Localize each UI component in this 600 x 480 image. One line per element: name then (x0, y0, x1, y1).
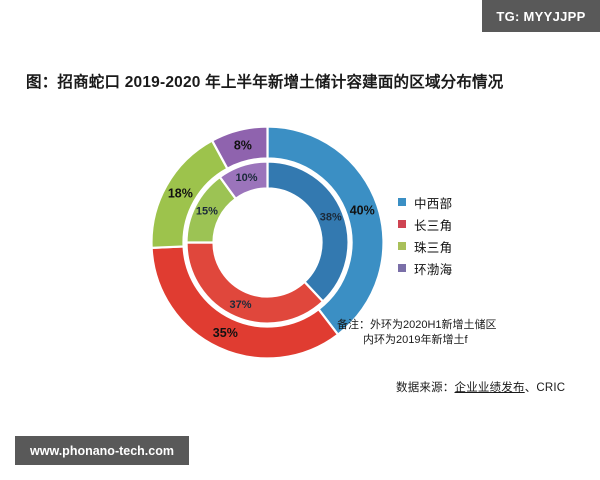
tg-watermark-text: TG: MYYJJPP (496, 9, 585, 24)
donut-slice-label: 40% (350, 203, 375, 217)
site-watermark-text: www.phonano-tech.com (30, 444, 174, 458)
legend-item[interactable]: 中西部 (398, 192, 508, 212)
donut-slice-label: 35% (213, 326, 238, 340)
donut-slice-label: 18% (168, 186, 193, 200)
legend-item[interactable]: 珠三角 (398, 236, 508, 256)
chart-note: 备注：外环为2020H1新增土储区 内环为2019年新增土f (337, 318, 512, 348)
legend-item-label: 中西部 (414, 193, 452, 212)
legend-swatch-icon (398, 264, 406, 272)
chart-title: 图：招商蛇口 2019-2020 年上半年新增土储计容建面的区域分布情况 (26, 70, 503, 92)
donut-inner-ring (187, 162, 349, 324)
chart-source-prefix: 数据来源： (396, 382, 455, 394)
legend-swatch-icon (398, 198, 406, 206)
legend-item[interactable]: 环渤海 (398, 258, 508, 278)
chart-note-line-1: 备注：外环为2020H1新增土储区 (337, 318, 512, 333)
donut-slice-label: 10% (235, 172, 257, 184)
legend-item-label: 环渤海 (414, 259, 452, 278)
legend-item-label: 长三角 (414, 215, 452, 234)
legend-swatch-icon (398, 220, 406, 228)
donut-slice-label: 15% (196, 206, 218, 218)
donut-slice-label: 8% (234, 139, 252, 153)
chart-source-link[interactable]: 企业业绩发布 (455, 382, 525, 394)
legend-item-label: 珠三角 (414, 237, 452, 256)
tg-watermark-badge: TG: MYYJJPP (482, 0, 600, 32)
chart-source-suffix: 、CRIC (525, 382, 566, 394)
donut-slice-label: 38% (320, 211, 342, 223)
site-watermark-bar: www.phonano-tech.com (15, 436, 189, 465)
legend-item[interactable]: 长三角 (398, 214, 508, 234)
donut-slice-label: 37% (229, 299, 251, 311)
chart-note-line-2: 内环为2019年新增土f (337, 333, 512, 348)
chart-source: 数据来源：企业业绩发布、CRIC (396, 379, 565, 395)
legend-swatch-icon (398, 242, 406, 250)
chart-legend: 中西部长三角珠三角环渤海 (398, 192, 508, 280)
